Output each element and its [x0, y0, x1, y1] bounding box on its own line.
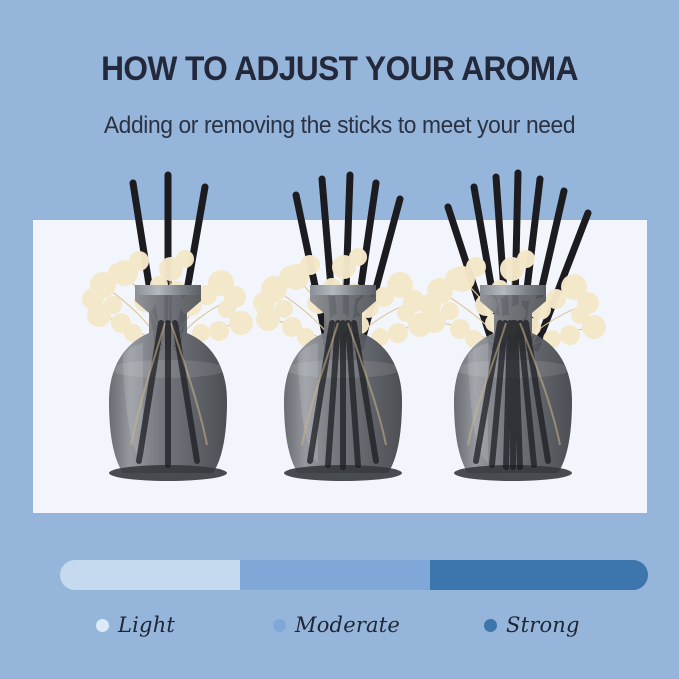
product-photo-inner	[33, 220, 647, 513]
page-subtitle: Adding or removing the sticks to meet yo…	[17, 112, 662, 140]
product-photo-panel	[33, 220, 647, 513]
diffuser-light	[73, 173, 263, 513]
diffuser-moderate	[248, 173, 438, 513]
legend-dot-icon-strong	[484, 619, 497, 632]
legend-item-light[interactable]: Light	[96, 608, 175, 642]
legend-label-light: Light	[118, 613, 175, 637]
legend-label-moderate: Moderate	[295, 613, 400, 637]
legend-label-strong: Strong	[506, 613, 580, 637]
legend-dot-icon-moderate	[273, 619, 286, 632]
intensity-segment-moderate[interactable]	[240, 560, 430, 590]
legend-item-strong[interactable]: Strong	[484, 608, 580, 642]
intensity-bar[interactable]	[60, 560, 648, 590]
intensity-segment-strong[interactable]	[430, 560, 648, 590]
diffuser-strong	[418, 173, 608, 513]
intensity-segment-light[interactable]	[60, 560, 240, 590]
page-title: HOW TO ADJUST YOUR AROMA	[24, 50, 655, 89]
legend-item-moderate[interactable]: Moderate	[273, 608, 400, 642]
intensity-legend: Light Moderate Strong	[60, 608, 648, 648]
legend-dot-icon-light	[96, 619, 109, 632]
